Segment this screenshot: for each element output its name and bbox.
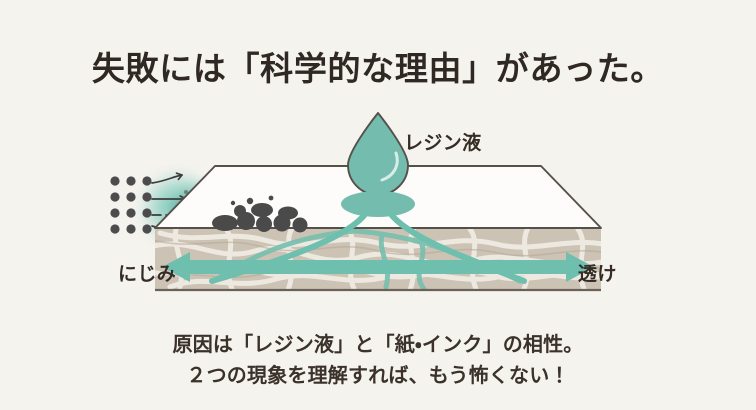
resin-pool xyxy=(341,191,415,217)
caption-line-2: ２つの現象を理解すれば、もう怖くない！ xyxy=(0,361,756,392)
label-show-through: 透け xyxy=(578,259,617,286)
caption-block: 原因は「レジン液」と「紙・インク」の相性。 ２つの現象を理解すれば、もう怖くない… xyxy=(0,330,756,392)
page-title: 失敗には「科学的な理由」があった。 xyxy=(0,42,756,90)
paper-resin-diagram xyxy=(0,95,756,315)
caption-line-1: 原因は「レジン液」と「紙・インク」の相性。 xyxy=(0,330,756,361)
label-resin-liquid: レジン液 xyxy=(404,128,482,155)
slide-root: 失敗には「科学的な理由」があった。 xyxy=(0,0,756,410)
diagram-canvas xyxy=(0,95,756,315)
resin-droplet xyxy=(348,113,408,195)
label-bleeding: にじみ xyxy=(118,259,176,286)
